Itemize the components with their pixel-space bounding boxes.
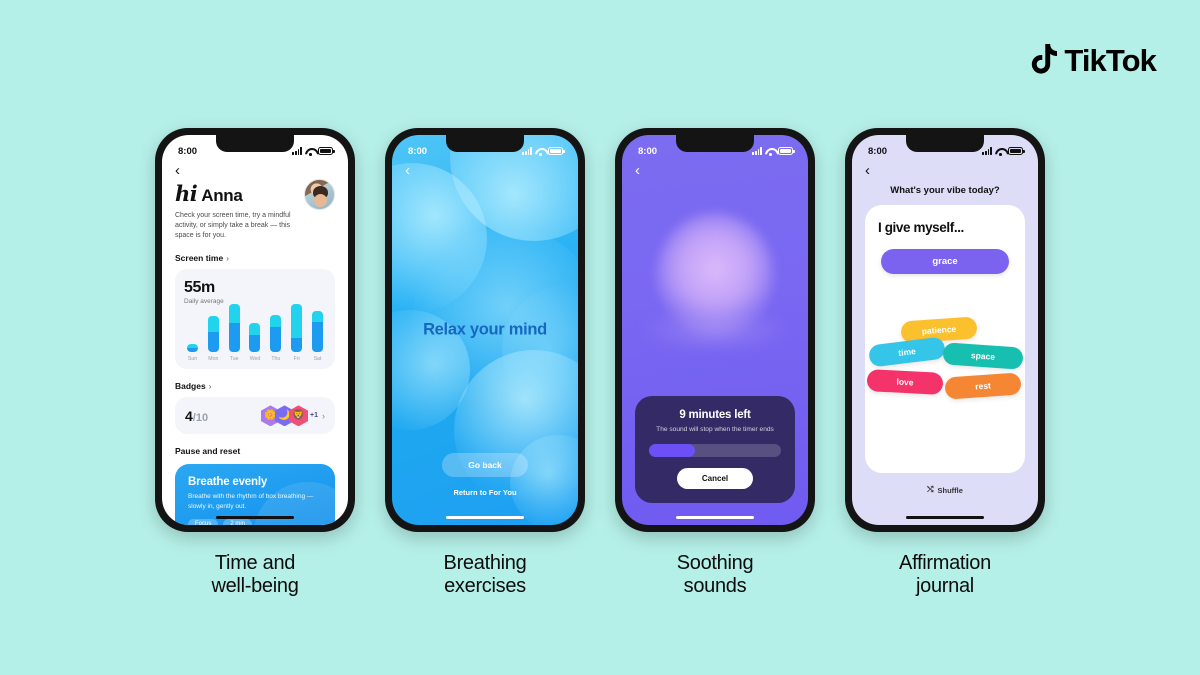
timer-modal: 9 minutes left The sound will stop when … (635, 396, 795, 503)
chevron-right-icon: › (226, 254, 229, 263)
chevron-right-icon: › (209, 382, 212, 391)
bar-label: Tue (230, 356, 239, 362)
breathe-title: Breathe evenly (188, 476, 322, 488)
phone-screen-soothing-sounds: 8:00 ‹ 9 minutes left The sound will sto… (622, 135, 808, 525)
notch (446, 135, 524, 152)
battery-icon (318, 147, 333, 155)
badges-card[interactable]: 4/10 🌼🌙🦁 +1 › (175, 397, 335, 434)
avatar[interactable] (304, 179, 335, 210)
timer-progress-track[interactable] (649, 444, 781, 457)
status-icons (522, 147, 563, 155)
back-button-3[interactable]: ‹ (635, 163, 640, 178)
home-indicator (446, 516, 524, 520)
cancel-button[interactable]: Cancel (677, 468, 753, 489)
word-pill-love[interactable]: love (866, 369, 943, 395)
greeting-block: hi Anna Check your screen time, try a mi… (175, 179, 335, 241)
screen-time-value: 55m (184, 279, 326, 297)
bar-column: Tue (229, 304, 240, 362)
status-time: 8:00 (638, 146, 657, 157)
notch (676, 135, 754, 152)
notch (906, 135, 984, 152)
bar-column: Wed (249, 323, 260, 363)
bar (208, 316, 219, 353)
section-header-screen-time[interactable]: Screen time › (175, 253, 335, 263)
bar-column: Thu (270, 315, 281, 363)
timer-subtitle: The sound will stop when the timer ends (649, 426, 781, 433)
status-time: 8:00 (868, 146, 887, 157)
badge-extra-count: +1 (310, 412, 318, 419)
greeting-line: hi Anna (175, 181, 303, 206)
bar-label: Sat (314, 356, 322, 362)
shuffle-button[interactable]: ⤭ Shuffle (852, 485, 1038, 495)
phone-column-time-wellbeing: 8:00 ‹ hi Anna (155, 128, 355, 598)
chevron-right-icon: › (322, 411, 325, 421)
wifi-icon (995, 147, 1005, 155)
caption-affirmation: Affirmation journal (899, 552, 991, 598)
screen-body-1: hi Anna Check your screen time, try a mi… (162, 179, 348, 525)
home-indicator (216, 516, 294, 520)
caption-time-wellbeing: Time and well-being (211, 552, 298, 598)
cellular-bars-icon (522, 147, 532, 155)
phone-screen-time-wellbeing: 8:00 ‹ hi Anna (162, 135, 348, 525)
phone-column-breathing: 8:00 ‹ Relax your mind Go back Return to… (385, 128, 585, 598)
status-icons (982, 147, 1023, 155)
back-button-1[interactable]: ‹ (175, 163, 180, 178)
home-indicator (906, 516, 984, 520)
relax-headline: Relax your mind (392, 319, 578, 340)
pause-reset-label: Pause and reset (175, 446, 240, 456)
affirmation-prompt: I give myself... (878, 220, 1012, 235)
section-header-pause-reset: Pause and reset (175, 446, 335, 456)
breathe-chips: Focus 2 min (188, 519, 322, 525)
screen-time-card[interactable]: 55m Daily average SunMonTueWedThuFriSat (175, 269, 335, 369)
status-icons (292, 147, 333, 155)
greeting-hi: hi (175, 181, 197, 206)
phone-showcase-row: 8:00 ‹ hi Anna (0, 128, 1200, 598)
bar-label: Thu (271, 356, 280, 362)
bar-label: Mon (208, 356, 218, 362)
greeting-name: Anna (201, 186, 242, 206)
word-pill-time[interactable]: time (868, 336, 946, 367)
bar-column: Fri (291, 304, 302, 362)
word-pill-grace[interactable]: grace (881, 249, 1009, 274)
timer-title: 9 minutes left (649, 409, 781, 421)
vibe-question: What's your vibe today? (852, 185, 1038, 196)
screen-time-label: Screen time (175, 253, 223, 263)
wifi-icon (765, 147, 775, 155)
wifi-icon (535, 147, 545, 155)
badge-earned: 4 (185, 408, 193, 424)
bar (291, 304, 302, 352)
wifi-icon (305, 147, 315, 155)
bar-column: Sat (312, 311, 323, 363)
badge-stack: 🌼🌙🦁 +1 › (261, 405, 325, 426)
shuffle-label: Shuffle (937, 486, 962, 495)
bar (187, 344, 198, 352)
caption-breathing: Breathing exercises (444, 552, 527, 598)
phone-screen-affirmation-journal: 8:00 ‹ What's your vibe today? I give my… (852, 135, 1038, 525)
battery-icon (548, 147, 563, 155)
chip-focus: Focus (188, 519, 218, 525)
tiktok-logo: TikTok (1031, 44, 1156, 76)
status-time: 8:00 (178, 146, 197, 157)
bar (312, 311, 323, 353)
phone-frame-1: 8:00 ‹ hi Anna (155, 128, 355, 532)
badge-count: 4/10 (185, 408, 208, 424)
phone-frame-2: 8:00 ‹ Relax your mind Go back Return to… (385, 128, 585, 532)
screen-time-value-label: Daily average (184, 298, 326, 305)
back-button-4[interactable]: ‹ (865, 163, 870, 178)
breathing-actions: Go back Return to For You (392, 453, 578, 497)
bar-label: Wed (250, 356, 261, 362)
battery-icon (778, 147, 793, 155)
section-header-badges[interactable]: Badges › (175, 381, 335, 391)
affirmation-card: I give myself... grace patience time spa… (865, 205, 1025, 473)
phone-frame-4: 8:00 ‹ What's your vibe today? I give my… (845, 128, 1045, 532)
status-time: 8:00 (408, 146, 427, 157)
cellular-bars-icon (752, 147, 762, 155)
notch (216, 135, 294, 152)
battery-icon (1008, 147, 1023, 155)
status-icons (752, 147, 793, 155)
back-button-2[interactable]: ‹ (405, 163, 410, 178)
timer-progress-fill (649, 444, 695, 457)
breathe-subtitle: Breathe with the rhythm of box breathing… (188, 492, 323, 512)
go-back-button[interactable]: Go back (442, 453, 528, 477)
badge-total: /10 (193, 412, 208, 424)
phone-screen-breathing: 8:00 ‹ Relax your mind Go back Return to… (392, 135, 578, 525)
bar-column: Mon (208, 316, 219, 363)
bar-label: Sun (188, 356, 197, 362)
bar (270, 315, 281, 353)
tiktok-note-icon (1031, 44, 1059, 76)
word-pill-rest[interactable]: rest (944, 372, 1021, 399)
phone-frame-3: 8:00 ‹ 9 minutes left The sound will sto… (615, 128, 815, 532)
badge-hex-icon: 🦁 (289, 405, 308, 426)
bar (249, 323, 260, 353)
bar-label: Fri (294, 356, 300, 362)
glow-halo-graphic (640, 307, 790, 353)
return-for-you-link[interactable]: Return to For You (392, 488, 578, 497)
cellular-bars-icon (982, 147, 992, 155)
greeting-text: hi Anna Check your screen time, try a mi… (175, 179, 303, 241)
tiktok-wordmark: TikTok (1064, 45, 1156, 76)
greeting-subtitle: Check your screen time, try a mindful ac… (175, 211, 303, 241)
screen-time-bar-chart: SunMonTueWedThuFriSat (184, 312, 326, 362)
bar (229, 304, 240, 352)
phone-column-affirmation: 8:00 ‹ What's your vibe today? I give my… (845, 128, 1045, 598)
cellular-bars-icon (292, 147, 302, 155)
word-pill-space[interactable]: space (942, 342, 1023, 370)
phone-column-soothing: 8:00 ‹ 9 minutes left The sound will sto… (615, 128, 815, 598)
caption-soothing: Soothing sounds (677, 552, 754, 598)
badges-label: Badges (175, 381, 206, 391)
shuffle-icon: ⤭ (927, 485, 933, 495)
home-indicator (676, 516, 754, 520)
chip-duration: 2 min (223, 519, 252, 525)
bar-column: Sun (187, 344, 198, 362)
